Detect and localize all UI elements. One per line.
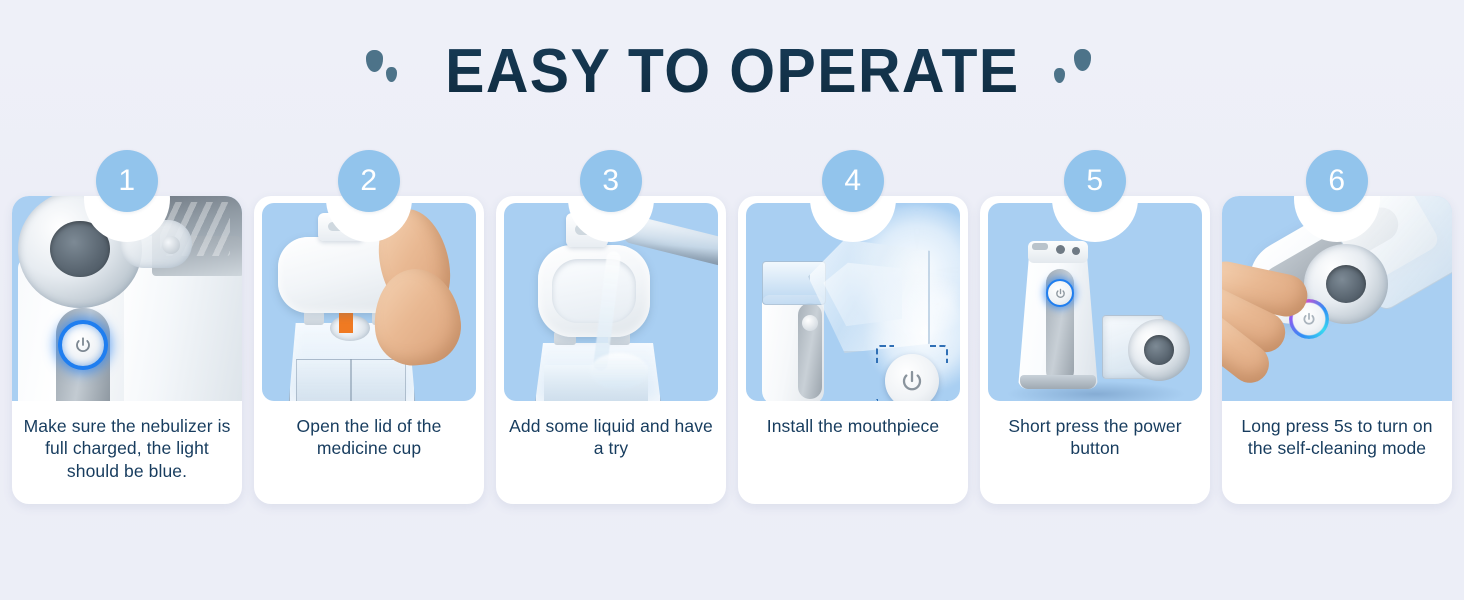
step-number-badge-6: 6: [1306, 150, 1368, 212]
step-image-6: [1222, 196, 1452, 401]
step-card-3: 3: [496, 150, 726, 504]
bracket-top-left-icon: [876, 345, 894, 363]
power-button[interactable]: [885, 354, 939, 401]
device-vent: [1032, 243, 1048, 250]
cup-grid-divider: [350, 359, 352, 401]
liquid-splash: [590, 353, 648, 389]
card-body-1: Make sure the nebulizer is full charged,…: [12, 196, 242, 504]
water-drop-small-icon: [1054, 68, 1065, 83]
water-drop-large-icon: [1074, 49, 1091, 71]
bracket-top-right-icon: [930, 345, 948, 363]
card-body-4: Install the mouthpiece: [738, 196, 968, 504]
card-body-2: Open the lid of the medicine cup: [254, 196, 484, 504]
step-image-3: [504, 203, 718, 401]
card-body-6: Long press 5s to turn on the self-cleani…: [1222, 196, 1452, 504]
step-caption-4: Install the mouthpiece: [738, 401, 968, 504]
step-card-1: 1: [12, 150, 242, 504]
step-image-2: [262, 203, 476, 401]
illustration-install-mouthpiece: [746, 203, 960, 401]
illustration-nebulizer-power-light: [12, 196, 242, 401]
illustration-short-press: [988, 203, 1202, 401]
step-number-badge-2: 2: [338, 150, 400, 212]
power-icon: [900, 369, 924, 393]
power-button[interactable]: [62, 324, 104, 366]
water-drops-left-icon: [362, 42, 416, 102]
step-image-1: [12, 196, 242, 401]
mesh-head-collar: [120, 220, 192, 268]
step-caption-2: Open the lid of the medicine cup: [254, 401, 484, 504]
power-button-callout[interactable]: [876, 345, 948, 401]
power-icon: [74, 336, 92, 354]
steps-row: 1: [0, 150, 1464, 504]
step-number-badge-4: 4: [822, 150, 884, 212]
step-image-5: [988, 203, 1202, 401]
bracket-bottom-right-icon: [930, 399, 948, 401]
illustration-add-liquid: [504, 203, 718, 401]
lid-hinge-left: [304, 311, 324, 325]
step-caption-3: Add some liquid and have a try: [496, 401, 726, 504]
mesh-head-nozzle: [162, 236, 180, 254]
water-drop-large-icon: [366, 50, 383, 72]
step-card-2: 2: [254, 150, 484, 504]
step-card-6: 6: [1222, 150, 1452, 504]
page-header: EASY TO OPERATE: [0, 22, 1464, 122]
step-caption-5: Short press the power button: [980, 401, 1210, 504]
step-number-badge-1: 1: [96, 150, 158, 212]
device-base: [1020, 375, 1096, 389]
power-icon: [1055, 288, 1066, 299]
step-image-4: [746, 203, 960, 401]
power-button-small[interactable]: [802, 315, 818, 331]
step-card-4: 4: [738, 150, 968, 504]
step-caption-6: Long press 5s to turn on the self-cleani…: [1222, 401, 1452, 504]
page-title: EASY TO OPERATE: [445, 41, 1020, 103]
step-number-badge-5: 5: [1064, 150, 1126, 212]
illustration-open-lid: [262, 203, 476, 401]
power-icon: [1302, 312, 1316, 326]
water-drops-right-icon: [1048, 42, 1102, 102]
lid-inner: [552, 259, 636, 323]
card-body-3: Add some liquid and have a try: [496, 196, 726, 504]
detached-mesh-head: [1128, 319, 1190, 381]
lid-tab: [318, 213, 364, 241]
step-caption-1: Make sure the nebulizer is full charged,…: [12, 401, 242, 504]
device-port-2: [1072, 247, 1080, 255]
step-card-5: 5: [980, 150, 1210, 504]
illustration-long-press-self-clean: [1222, 196, 1452, 401]
step-number-badge-3: 3: [580, 150, 642, 212]
water-drop-small-icon: [386, 67, 397, 82]
power-button[interactable]: [1048, 281, 1072, 305]
device-port-1: [1056, 245, 1065, 254]
card-body-5: Short press the power button: [980, 196, 1210, 504]
easy-to-operate-infographic: EASY TO OPERATE 1: [0, 0, 1464, 600]
lid-tab: [566, 213, 608, 247]
